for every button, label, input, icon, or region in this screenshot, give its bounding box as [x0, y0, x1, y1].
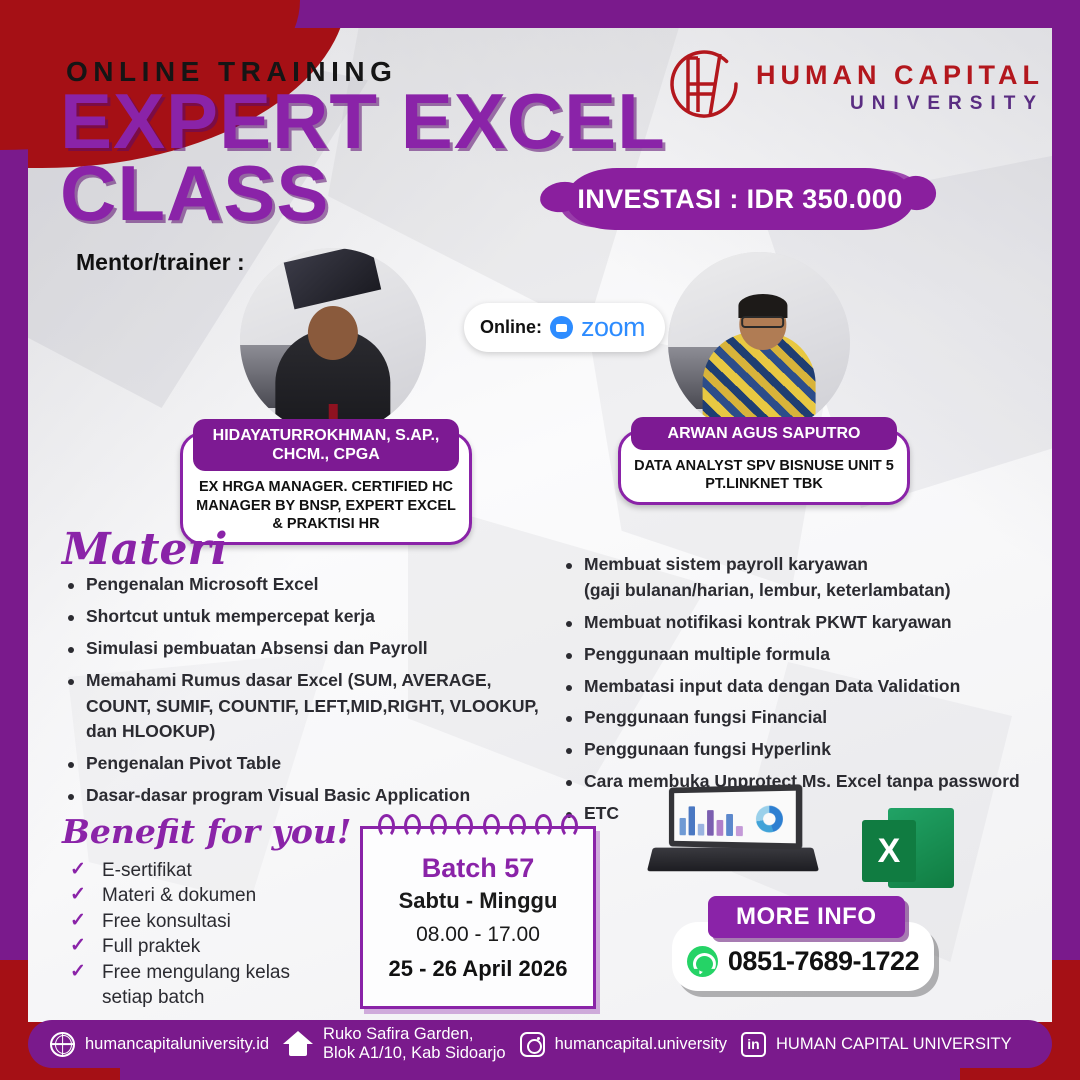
mentor-card-body: ARWAN AGUS SAPUTRO DATA ANALYST SPV BISN…: [618, 430, 910, 505]
platform-prefix: Online:: [480, 317, 542, 338]
list-item-text: Full praktek: [102, 936, 200, 957]
list-item-text: Free konsultasi: [102, 911, 231, 932]
benefits-heading: Benefit for you!: [62, 812, 351, 851]
photo-person-head: [308, 306, 358, 360]
excel-letter: X: [862, 820, 916, 882]
address-line-1: Ruko Safira Garden,: [323, 1025, 506, 1044]
list-item: Free konsultasi: [70, 909, 290, 934]
linkedin-icon: in: [741, 1032, 766, 1057]
list-item-text: Membuat notifikasi kontrak PKWT karyawan: [584, 612, 952, 632]
chart-bar: [680, 818, 686, 835]
list-item-continuation: (gaji bulanan/harian, lembur, keterlamba…: [584, 578, 1062, 604]
list-item: Shortcut untuk mempercepat kerja: [64, 604, 544, 630]
notepad-rings: [363, 814, 593, 838]
logo-name-bottom: UNIVERSITY: [756, 94, 1044, 113]
website-url[interactable]: humancapitaluniversity.id: [85, 1035, 269, 1054]
footer-linkedin[interactable]: in HUMAN CAPITAL UNIVERSITY: [741, 1032, 1012, 1057]
list-item: Penggunaan fungsi Financial: [562, 705, 1062, 731]
globe-icon: [50, 1032, 75, 1057]
list-item: Membuat notifikasi kontrak PKWT karyawan: [562, 610, 1062, 636]
microsoft-excel-icon: X: [862, 802, 954, 894]
list-item-text: Free mengulang kelas: [102, 962, 290, 983]
avatar: [240, 248, 426, 434]
chart-bar: [717, 820, 724, 836]
avatar: [668, 252, 850, 434]
list-item: Penggunaan fungsi Hyperlink: [562, 737, 1062, 763]
instagram-handle[interactable]: humancapital.university: [555, 1035, 727, 1054]
list-item: Membuat sistem payroll karyawan (gaji bu…: [562, 552, 1062, 604]
platform-badge: Online: zoom: [464, 303, 665, 352]
chart-donut: [756, 806, 783, 833]
linkedin-handle[interactable]: HUMAN CAPITAL UNIVERSITY: [776, 1035, 1012, 1054]
whatsapp-icon: [687, 946, 718, 977]
platform-name: zoom: [581, 312, 645, 343]
zoom-camera-icon: [550, 316, 573, 339]
list-item: Free mengulang kelas setiap batch: [70, 960, 290, 1011]
list-item: Materi & dokumen: [70, 883, 290, 908]
spiral-ring-icon: [456, 814, 473, 838]
list-item: Memahami Rumus dasar Excel (SUM, AVERAGE…: [64, 668, 544, 746]
laptop-screen: [669, 784, 802, 850]
schedule-date: 25 - 26 April 2026: [363, 956, 593, 982]
brand-logo: HUMAN CAPITAL UNIVERSITY: [658, 38, 1044, 130]
footer-instagram[interactable]: humancapital.university: [520, 1032, 727, 1057]
investment-badge: INVESTASI : IDR 350.000: [566, 168, 914, 230]
list-item-text: Dasar-dasar program Visual Basic Applica…: [86, 785, 470, 805]
list-item: Pengenalan Pivot Table: [64, 751, 544, 777]
spiral-ring-icon: [430, 814, 447, 838]
chart-bar: [698, 824, 705, 836]
chart-bar: [707, 810, 714, 836]
list-item-text: Penggunaan multiple formula: [584, 644, 830, 664]
logo-name-top: HUMAN CAPITAL: [756, 62, 1044, 89]
list-item-text: Shortcut untuk mempercepat kerja: [86, 606, 375, 626]
spiral-ring-icon: [561, 814, 578, 838]
spiral-ring-icon: [483, 814, 500, 838]
list-item: Full praktek: [70, 934, 290, 959]
list-item-text: Membuat sistem payroll karyawan: [584, 554, 868, 574]
poster-canvas: ONLINE TRAINING EXPERT EXCEL CLASS HUMAN…: [0, 0, 1080, 1080]
materi-heading: Materi: [62, 524, 227, 575]
instagram-icon: [520, 1032, 545, 1057]
list-item-text: Simulasi pembuatan Absensi dan Payroll: [86, 638, 428, 658]
footer-website[interactable]: humancapitaluniversity.id: [50, 1032, 269, 1057]
mentor-name: ARWAN AGUS SAPUTRO: [631, 417, 897, 450]
home-icon: [283, 1031, 313, 1057]
laptop-chart-icon: [650, 786, 816, 878]
investment-label: INVESTASI : IDR 350.000: [566, 168, 914, 230]
list-item-text: Memahami Rumus dasar Excel (SUM, AVERAGE…: [86, 670, 492, 690]
schedule-card: Batch 57 Sabtu - Minggu 08.00 - 17.00 25…: [360, 826, 596, 1009]
list-item-continuation: setiap batch: [102, 985, 290, 1010]
spiral-ring-icon: [404, 814, 421, 838]
footer-bar: humancapitaluniversity.id Ruko Safira Ga…: [28, 1020, 1052, 1068]
footer-address: Ruko Safira Garden, Blok A1/10, Kab Sido…: [283, 1025, 506, 1063]
list-item: Pengenalan Microsoft Excel: [64, 572, 544, 598]
list-item-text: Pengenalan Microsoft Excel: [86, 574, 318, 594]
list-item-text: Membatasi input data dengan Data Validat…: [584, 676, 960, 696]
address-text: Ruko Safira Garden, Blok A1/10, Kab Sido…: [323, 1025, 506, 1063]
list-item-text: E-sertifikat: [102, 860, 192, 881]
spiral-ring-icon: [378, 814, 395, 838]
list-item-text: Penggunaan fungsi Hyperlink: [584, 739, 831, 759]
mentor-label: Mentor/trainer :: [76, 249, 245, 276]
schedule-batch: Batch 57: [363, 853, 593, 884]
list-item-text: Penggunaan fungsi Financial: [584, 707, 827, 727]
list-item: Simulasi pembuatan Absensi dan Payroll: [64, 636, 544, 662]
laptop-keyboard: [647, 848, 819, 872]
schedule-days: Sabtu - Minggu: [363, 888, 593, 914]
photo-detail: [738, 294, 787, 318]
list-item: Dasar-dasar program Visual Basic Applica…: [64, 783, 544, 809]
h-monogram-circle-icon: [658, 38, 750, 130]
more-info-tab-label: MORE INFO: [708, 896, 905, 938]
spiral-ring-icon: [535, 814, 552, 838]
mentor-card: ARWAN AGUS SAPUTRO DATA ANALYST SPV BISN…: [618, 430, 910, 505]
list-item-text: Materi & dokumen: [102, 885, 256, 906]
list-item: Penggunaan multiple formula: [562, 642, 1062, 668]
chart-bar: [726, 814, 733, 836]
spiral-ring-icon: [509, 814, 526, 838]
chart-bar: [689, 806, 695, 835]
list-item-text: Pengenalan Pivot Table: [86, 753, 281, 773]
logo-wordmark: HUMAN CAPITAL UNIVERSITY: [756, 56, 1044, 113]
list-item: E-sertifikat: [70, 858, 290, 883]
list-item: Membatasi input data dengan Data Validat…: [562, 674, 1062, 700]
mentor-name: HIDAYATURROKHMAN, S.AP., CHCM., CPGA: [193, 419, 459, 471]
list-item-continuation: COUNT, SUMIF, COUNTIF, LEFT,MID,RIGHT, V…: [86, 694, 544, 746]
schedule-time: 08.00 - 17.00: [363, 923, 593, 947]
photo-glasses: [741, 316, 785, 329]
chart-bar: [736, 826, 743, 836]
address-line-2: Blok A1/10, Kab Sidoarjo: [323, 1044, 506, 1063]
mentor-role: DATA ANALYST SPV BISNUSE UNIT 5 PT.LINKN…: [621, 457, 907, 493]
benefits-list: E-sertifikat Materi & dokumen Free konsu…: [70, 858, 290, 1011]
materi-list-left: Pengenalan Microsoft Excel Shortcut untu…: [64, 572, 544, 815]
contact-phone-number[interactable]: 0851-7689-1722: [728, 946, 919, 977]
